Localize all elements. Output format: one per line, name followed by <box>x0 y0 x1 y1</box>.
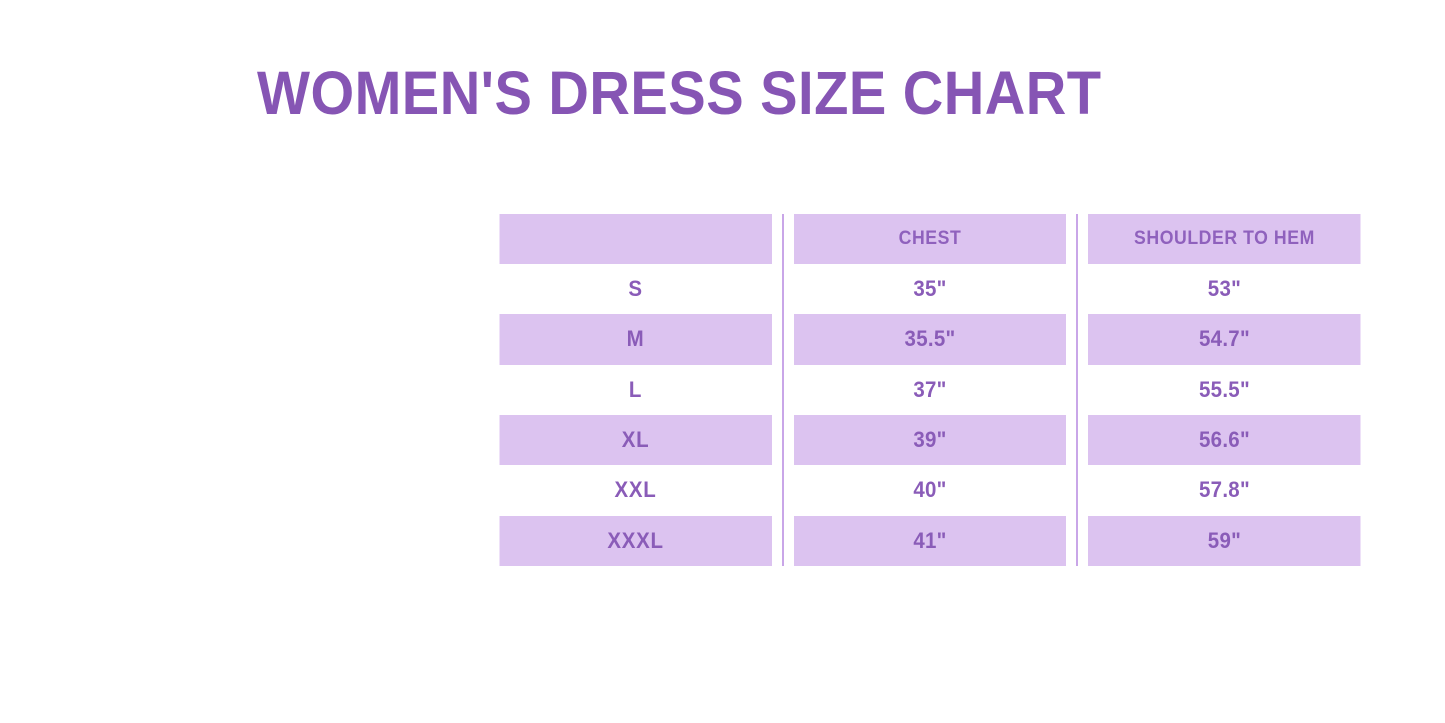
table-body: S 35" 53" M 35.5" 54.7" L 37" 55.5" XL 3… <box>489 264 1371 566</box>
table-row: L 37" 55.5" <box>489 365 1371 415</box>
column-header-size <box>499 214 772 264</box>
size-chart-table-wrap: CHEST SHOULDER TO HEM S 35" 53" M 35.5" … <box>489 214 1371 566</box>
table-header-row: CHEST SHOULDER TO HEM <box>489 214 1371 264</box>
cell-shoulder-to-hem: 54.7" <box>1087 314 1360 364</box>
cell-size: M <box>499 314 772 364</box>
cell-chest: 41" <box>793 516 1066 566</box>
page-title: WOMEN'S DRESS SIZE CHART <box>58 58 1387 128</box>
cell-shoulder-to-hem: 53" <box>1087 264 1360 314</box>
table-row: XXL 40" 57.8" <box>489 465 1371 515</box>
column-header-chest: CHEST <box>793 214 1066 264</box>
cell-size: XL <box>499 415 772 465</box>
cell-shoulder-to-hem: 57.8" <box>1087 465 1360 515</box>
cell-size: XXL <box>499 465 772 515</box>
cell-size: XXXL <box>499 516 772 566</box>
cell-chest: 35.5" <box>793 314 1066 364</box>
cell-chest: 37" <box>793 365 1066 415</box>
size-chart-table: CHEST SHOULDER TO HEM S 35" 53" M 35.5" … <box>489 214 1371 566</box>
cell-shoulder-to-hem: 55.5" <box>1087 365 1360 415</box>
cell-shoulder-to-hem: 59" <box>1087 516 1360 566</box>
size-chart-page: WOMEN'S DRESS SIZE CHART CHEST SHOULDER … <box>0 0 1445 723</box>
table-row: XL 39" 56.6" <box>489 415 1371 465</box>
cell-size: S <box>499 264 772 314</box>
cell-chest: 40" <box>793 465 1066 515</box>
table-header: CHEST SHOULDER TO HEM <box>489 214 1371 264</box>
cell-shoulder-to-hem: 56.6" <box>1087 415 1360 465</box>
column-header-shoulder-to-hem: SHOULDER TO HEM <box>1087 214 1360 264</box>
table-row: XXXL 41" 59" <box>489 516 1371 566</box>
table-row: M 35.5" 54.7" <box>489 314 1371 364</box>
cell-size: L <box>499 365 772 415</box>
table-row: S 35" 53" <box>489 264 1371 314</box>
cell-chest: 35" <box>793 264 1066 314</box>
cell-chest: 39" <box>793 415 1066 465</box>
